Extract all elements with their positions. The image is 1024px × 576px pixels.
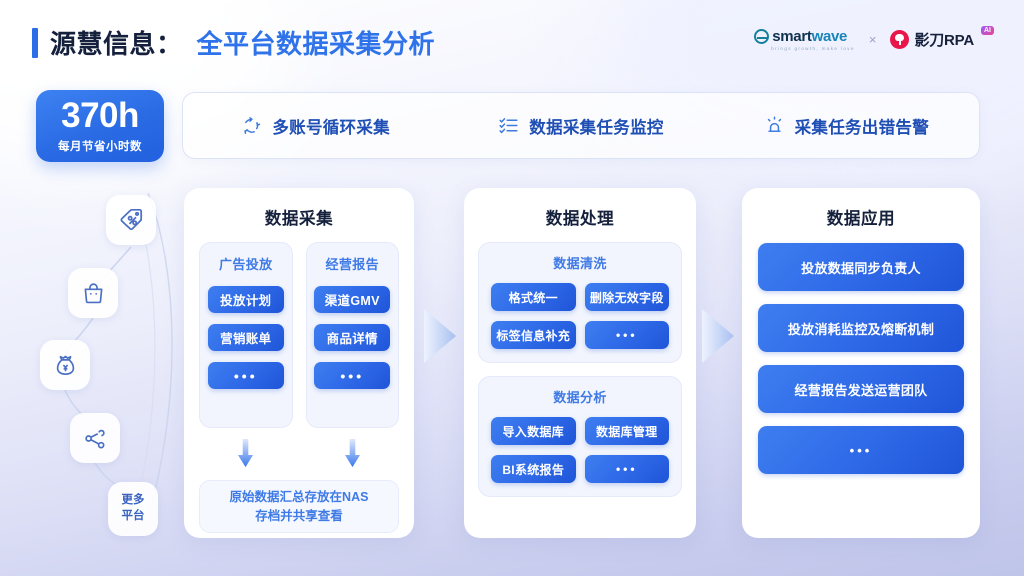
feature-item-error-alert[interactable]: 采集任务出错告警 <box>714 114 979 138</box>
processing-group-analysis: 数据分析 导入数据库 数据库管理 BI系统报告 ••• <box>478 376 682 497</box>
chip-bi-system-report[interactable]: BI系统报告 <box>491 455 576 483</box>
alarm-light-icon <box>764 115 785 136</box>
flow-arrow-collection-to-processing <box>418 305 462 367</box>
smartwave-mark-icon <box>754 29 769 44</box>
feature-item-task-monitor[interactable]: 数据采集任务监控 <box>448 114 713 138</box>
feature-item-multi-account-loop[interactable]: 多账号循环采集 <box>183 114 448 138</box>
collection-col-ads: 广告投放 投放计划 营销账单 ••• <box>199 242 293 428</box>
chip-application-more[interactable]: ••• <box>758 426 964 474</box>
panel-data-processing: 数据处理 数据清洗 格式统一 删除无效字段 标签信息补充 ••• 数据分析 导入… <box>464 188 696 538</box>
nas-text-line-2: 存档并共享查看 <box>255 509 343 523</box>
rail-item-promotion[interactable] <box>106 195 156 245</box>
collection-columns: 广告投放 投放计划 营销账单 ••• 经营报告 渠道GMV 商品详情 ••• <box>184 242 414 428</box>
feature-bar: 多账号循环采集 数据采集任务监控 采集任务出错告警 <box>182 92 980 159</box>
hours-saved-badge: 370h 每月节省小时数 <box>36 90 164 162</box>
chip-database-manage[interactable]: 数据库管理 <box>585 417 670 445</box>
shopping-bag-icon <box>81 281 106 306</box>
feature-label-1: 数据采集任务监控 <box>529 114 663 138</box>
yingdao-rpa-logo: 影刀RPA AI <box>890 29 994 50</box>
smartwave-wordmark: smartwave <box>772 28 847 45</box>
chip-analysis-more[interactable]: ••• <box>585 455 670 483</box>
chip-ads-more[interactable]: ••• <box>208 362 284 389</box>
page-title: 源慧信息： 全平台数据采集分析 <box>32 24 435 61</box>
share-nodes-icon <box>83 426 108 451</box>
price-tag-percent-icon <box>118 207 144 233</box>
processing-group-analysis-title: 数据分析 <box>479 387 681 406</box>
panel-title-application: 数据应用 <box>742 205 980 229</box>
title-main-text: 源慧信息： <box>50 24 183 61</box>
rail-item-shop[interactable] <box>68 268 118 318</box>
panel-title-collection: 数据采集 <box>184 205 414 229</box>
chip-sync-owner[interactable]: 投放数据同步负责人 <box>758 243 964 291</box>
page-header: 源慧信息： 全平台数据采集分析 smartwave brings growth,… <box>0 0 1024 82</box>
down-arrow-icon-right <box>343 439 362 469</box>
collection-down-arrows <box>184 439 414 469</box>
collection-col-reports: 经营报告 渠道GMV 商品详情 ••• <box>306 242 400 428</box>
processing-group-cleaning-title: 数据清洗 <box>479 253 681 272</box>
chip-ad-plan[interactable]: 投放计划 <box>208 286 284 313</box>
down-arrow-icon-left <box>236 439 255 469</box>
collection-col-reports-title: 经营报告 <box>307 254 399 273</box>
feature-label-0: 多账号循环采集 <box>272 114 390 138</box>
chip-import-database[interactable]: 导入数据库 <box>491 417 576 445</box>
hours-saved-value: 370h <box>61 98 139 133</box>
rail-item-finance[interactable] <box>40 340 90 390</box>
panel-title-processing: 数据处理 <box>464 205 696 229</box>
rail-more-platforms-label: 更多 平台 <box>122 493 145 524</box>
processing-group-cleaning: 数据清洗 格式统一 删除无效字段 标签信息补充 ••• <box>478 242 682 363</box>
feature-label-2: 采集任务出错告警 <box>795 114 929 138</box>
more-line-1: 更多 <box>122 494 145 506</box>
chip-cleaning-more[interactable]: ••• <box>585 321 670 349</box>
nas-storage-box: 原始数据汇总存放在NAS 存档并共享查看 <box>199 480 399 533</box>
rail-item-more-platforms[interactable]: 更多 平台 <box>108 482 158 536</box>
panel-data-application: 数据应用 投放数据同步负责人 投放消耗监控及熔断机制 经营报告发送运营团队 ••… <box>742 188 980 538</box>
chip-send-report[interactable]: 经营报告发送运营团队 <box>758 365 964 413</box>
title-accent-text: 全平台数据采集分析 <box>197 24 436 61</box>
chip-format-unify[interactable]: 格式统一 <box>491 283 576 311</box>
panel-data-collection: 数据采集 广告投放 投放计划 营销账单 ••• 经营报告 渠道GMV 商品详情 … <box>184 188 414 538</box>
brand-lockup: smartwave brings growth, make love × 影刀R… <box>754 28 994 51</box>
chip-spend-monitor[interactable]: 投放消耗监控及熔断机制 <box>758 304 964 352</box>
smartwave-tagline: brings growth, make love <box>771 46 855 51</box>
chip-tag-info-fill[interactable]: 标签信息补充 <box>491 321 576 349</box>
nas-text-line-1: 原始数据汇总存放在NAS <box>230 490 369 504</box>
collection-col-ads-title: 广告投放 <box>200 254 292 273</box>
chip-channel-gmv[interactable]: 渠道GMV <box>314 286 390 313</box>
chip-remove-invalid-fields[interactable]: 删除无效字段 <box>585 283 670 311</box>
smartwave-logo: smartwave brings growth, make love <box>754 28 855 51</box>
ai-badge: AI <box>981 26 994 35</box>
chip-product-detail[interactable]: 商品详情 <box>314 324 390 351</box>
yingdao-mark-icon <box>890 30 909 49</box>
chip-marketing-bill[interactable]: 营销账单 <box>208 324 284 351</box>
more-line-2: 平台 <box>122 510 145 522</box>
rail-item-social[interactable] <box>70 413 120 463</box>
checklist-icon <box>498 115 519 136</box>
chip-reports-more[interactable]: ••• <box>314 362 390 389</box>
money-bag-yuan-icon <box>53 353 78 378</box>
sync-circle-icon <box>241 115 262 136</box>
application-chip-list: 投放数据同步负责人 投放消耗监控及熔断机制 经营报告发送运营团队 ••• <box>742 229 980 474</box>
title-accent-bar <box>32 28 38 58</box>
flow-arrow-processing-to-application <box>696 305 740 367</box>
platform-rail: 更多 平台 <box>30 185 180 545</box>
hours-saved-caption: 每月节省小时数 <box>58 138 142 154</box>
brand-separator: × <box>869 32 877 47</box>
yingdao-wordmark: 影刀RPA <box>914 29 974 50</box>
